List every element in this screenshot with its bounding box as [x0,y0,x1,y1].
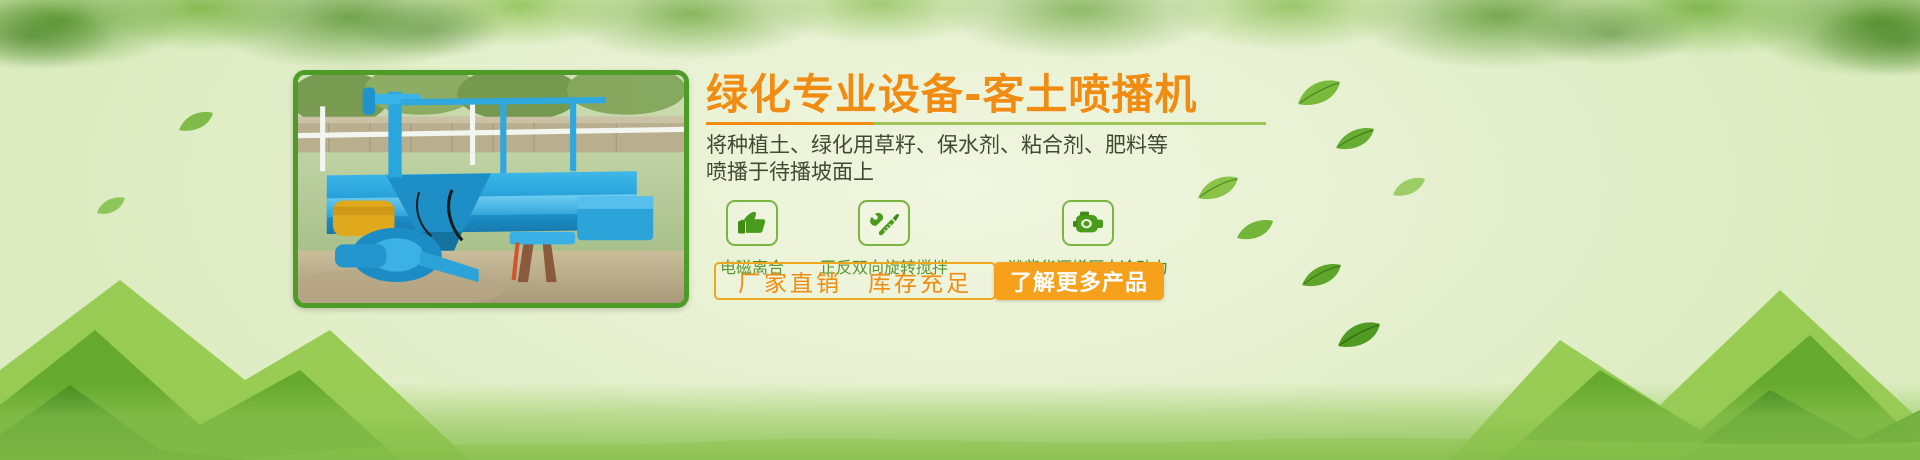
banner-content: 绿化专业设备-客土喷播机 将种植土、绿化用草籽、保水剂、粘合剂、肥料等 喷播于待… [706,72,1286,278]
page-title: 绿化专业设备-客土喷播机 [706,72,1286,118]
product-photo-frame [293,70,689,308]
feature-icon-box [858,200,910,246]
wrench-screwdriver-icon [869,209,899,237]
cta-tagline: 厂家直销 库存充足 [714,262,996,300]
product-photo [298,75,684,303]
feature-icon-box [1062,200,1114,246]
subtitle-line-1: 将种植土、绿化用草籽、保水剂、粘合剂、肥料等 [706,132,1286,159]
floating-leaf-icon [1300,262,1342,289]
feature-icon-box [726,200,778,246]
floating-leaf-icon [1296,78,1342,108]
floating-leaf-icon [96,196,126,216]
floating-leaf-icon [1336,320,1382,350]
cta-row: 厂家直销 库存充足 了解更多产品 [714,262,1164,300]
learn-more-button[interactable]: 了解更多产品 [994,262,1164,300]
subtitle-line-2: 喷播于待播坡面上 [706,159,1286,186]
engine-icon [1072,210,1104,236]
grass-strip-decoration [0,382,1920,460]
thumbs-up-icon [737,210,767,236]
floating-leaf-icon [1335,126,1375,152]
promo-banner: 绿化专业设备-客土喷播机 将种植土、绿化用草籽、保水剂、粘合剂、肥料等 喷播于待… [0,0,1920,460]
floating-leaf-icon [1392,176,1426,198]
floating-leaf-icon [178,110,214,133]
title-underline [706,122,1266,125]
